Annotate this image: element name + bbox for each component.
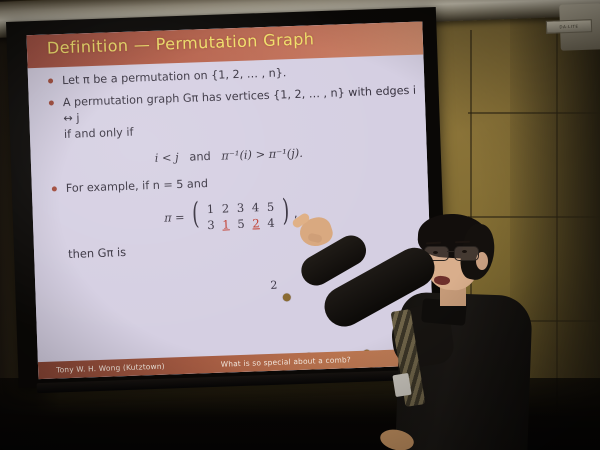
- footer-author: Tony W. H. Wong (Kutztown): [56, 362, 165, 375]
- presenter-eye: [462, 250, 467, 253]
- glasses-bridge: [447, 251, 454, 252]
- presenter-shirt-cuff: [392, 373, 411, 397]
- footer-talk-title: What is so special about a comb?: [221, 355, 351, 369]
- projection-screen: Definition — Permutation Graph Let π be …: [6, 7, 449, 388]
- glasses-lens-right: [454, 246, 479, 261]
- graph-vertex: [283, 293, 291, 301]
- beamer-slide: Definition — Permutation Graph Let π be …: [26, 21, 434, 379]
- projection-surface: Definition — Permutation Graph Let π be …: [26, 21, 434, 379]
- lecture-photo-scene: DA-LITE Definition — Permutation Graph L…: [0, 0, 600, 450]
- roller-brand-label: DA-LITE: [546, 19, 592, 34]
- permutation-graph: 1 2 3 4: [28, 54, 435, 379]
- presenter: [392, 214, 542, 450]
- presenter-eye: [433, 251, 438, 254]
- slide-body: Let π be a permutation on {1, 2, … , n}.…: [28, 54, 435, 379]
- graph-vertex-label: 2: [270, 278, 278, 294]
